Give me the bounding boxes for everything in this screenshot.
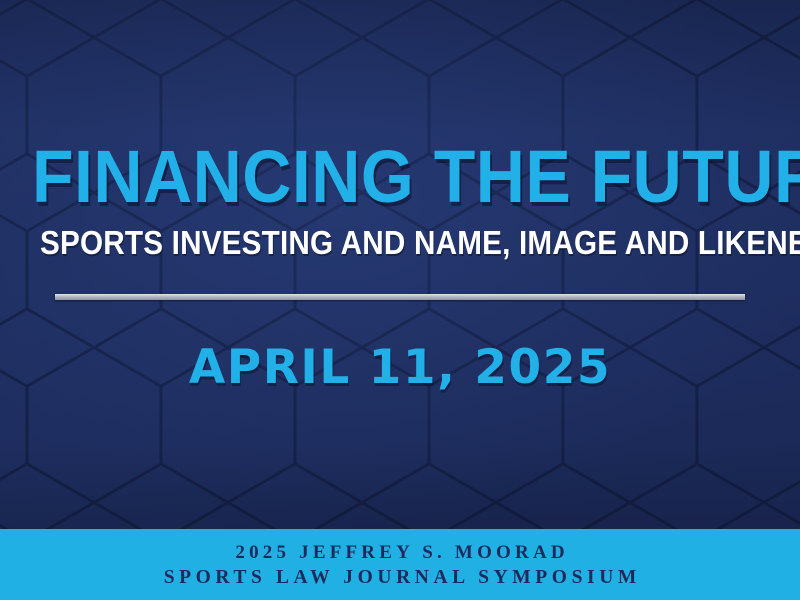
event-date: APRIL 11, 2025 [0, 342, 800, 394]
poster-content: FINANCING THE FUTURE SPORTS INVESTING AN… [0, 0, 800, 600]
title-divider [55, 294, 745, 300]
page-title: FINANCING THE FUTURE [32, 140, 768, 214]
banner-event-line: SPORTS LAW JOURNAL SYMPOSIUM [159, 565, 641, 590]
banner-organization-line: 2025 JEFFREY S. MOORAD [231, 540, 569, 565]
page-subtitle: SPORTS INVESTING AND NAME, IMAGE AND LIK… [40, 226, 760, 260]
symposium-poster: FINANCING THE FUTURE SPORTS INVESTING AN… [0, 0, 800, 600]
bottom-banner: 2025 JEFFREY S. MOORAD SPORTS LAW JOURNA… [0, 529, 800, 600]
